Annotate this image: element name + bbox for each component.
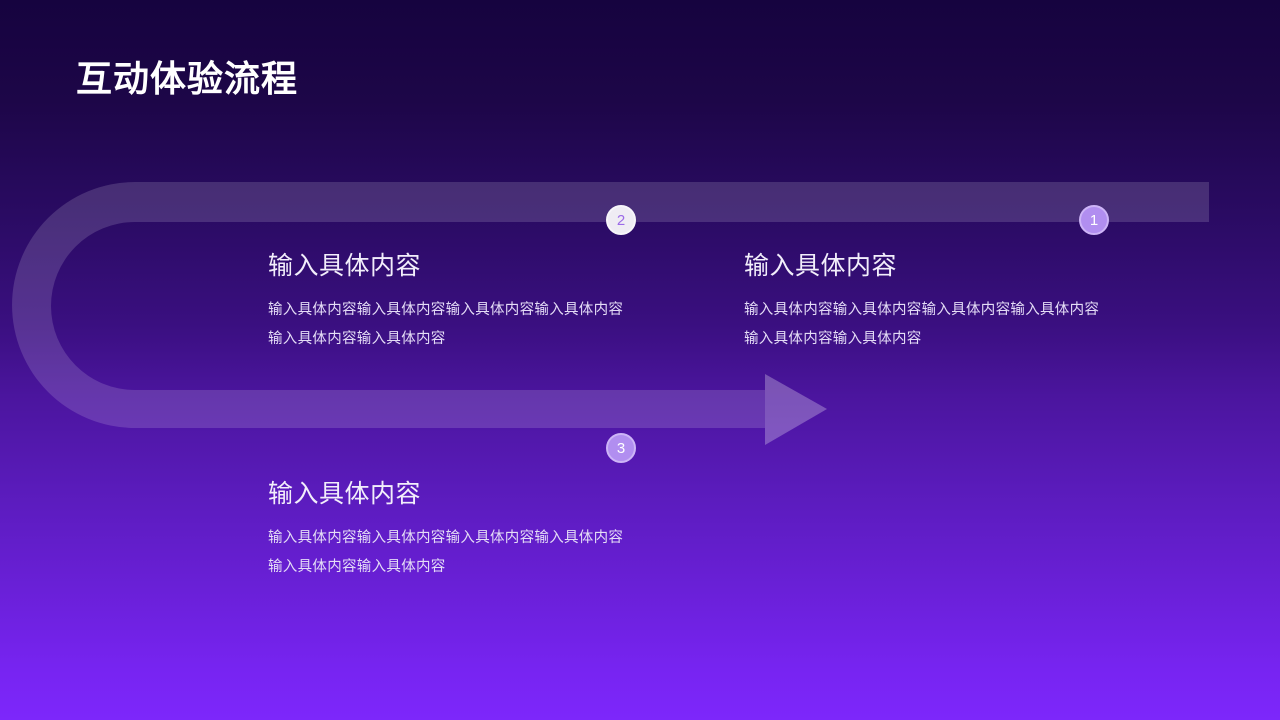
step-block-1: 输入具体内容 输入具体内容输入具体内容输入具体内容输入具体内容输入具体内容输入具… (744, 251, 1104, 353)
step-badge-3: 3 (606, 433, 636, 463)
step-3-heading: 输入具体内容 (268, 479, 628, 510)
step-2-body: 输入具体内容输入具体内容输入具体内容输入具体内容输入具体内容输入具体内容 (268, 296, 628, 353)
step-1-body: 输入具体内容输入具体内容输入具体内容输入具体内容输入具体内容输入具体内容 (744, 296, 1104, 353)
step-badge-1-number: 1 (1090, 213, 1098, 228)
step-3-body: 输入具体内容输入具体内容输入具体内容输入具体内容输入具体内容输入具体内容 (268, 524, 628, 581)
page-title: 互动体验流程 (76, 57, 298, 100)
u-turn-arrow-ribbon (0, 0, 1280, 720)
step-badge-2-number: 2 (617, 213, 625, 228)
step-badge-2: 2 (606, 205, 636, 235)
step-badge-1: 1 (1079, 205, 1109, 235)
step-block-2: 输入具体内容 输入具体内容输入具体内容输入具体内容输入具体内容输入具体内容输入具… (268, 251, 628, 353)
step-badge-3-number: 3 (617, 441, 625, 456)
step-2-heading: 输入具体内容 (268, 251, 628, 282)
step-block-3: 输入具体内容 输入具体内容输入具体内容输入具体内容输入具体内容输入具体内容输入具… (268, 479, 628, 581)
slide-canvas: 互动体验流程 1 2 3 输入具体内容 输入具体内容输入具体内容输入具体内容输入… (0, 0, 1280, 720)
step-1-heading: 输入具体内容 (744, 251, 1104, 282)
